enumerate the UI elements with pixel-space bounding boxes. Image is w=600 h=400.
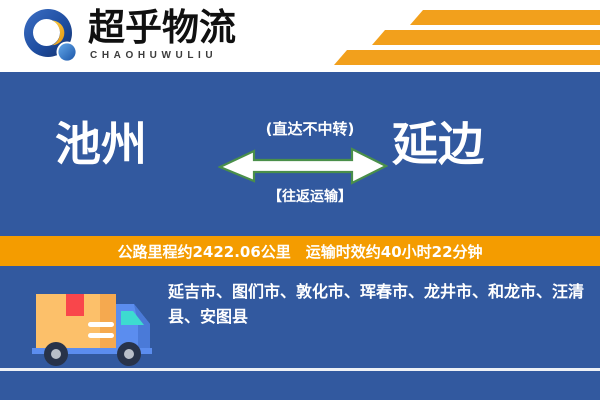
double-arrow-icon bbox=[218, 145, 388, 185]
brand-text: 超乎物流 CHAOHUWULIU bbox=[88, 6, 273, 66]
header-bar: 超乎物流 CHAOHUWULIU bbox=[0, 0, 600, 72]
direct-transport-note: (直达不中转) bbox=[245, 118, 375, 139]
brand-name-en: CHAOHUWULIU bbox=[90, 50, 217, 61]
origin-city: 池州 bbox=[55, 118, 147, 170]
distance-duration-bar: 公路里程约2422.06公里 运输时效约40小时22分钟 bbox=[0, 236, 600, 266]
circle-moon-logo-icon bbox=[22, 8, 80, 66]
stripe-bottom bbox=[334, 50, 600, 65]
decorative-stripes bbox=[290, 8, 600, 68]
stripe-top bbox=[410, 10, 600, 25]
stripe-middle bbox=[372, 30, 600, 45]
brand-name-cn: 超乎物流 bbox=[88, 6, 236, 50]
road-line bbox=[0, 368, 600, 371]
delivery-truck-icon bbox=[26, 276, 162, 368]
distance-duration-text: 公路里程约2422.06公里 运输时效约40小时22分钟 bbox=[117, 241, 482, 262]
logistics-route-poster: 超乎物流 CHAOHUWULIU 池州 延边 (直达不中转) 【往返运输】 公路… bbox=[0, 0, 600, 400]
brand-logo[interactable]: 超乎物流 CHAOHUWULIU bbox=[22, 6, 272, 68]
coverage-areas-text: 延吉市、图们市、敦化市、珲春市、龙井市、和龙市、汪清县、安图县 bbox=[168, 279, 588, 329]
roundtrip-note: 【往返运输】 bbox=[235, 186, 385, 206]
destination-city: 延边 bbox=[392, 118, 484, 170]
